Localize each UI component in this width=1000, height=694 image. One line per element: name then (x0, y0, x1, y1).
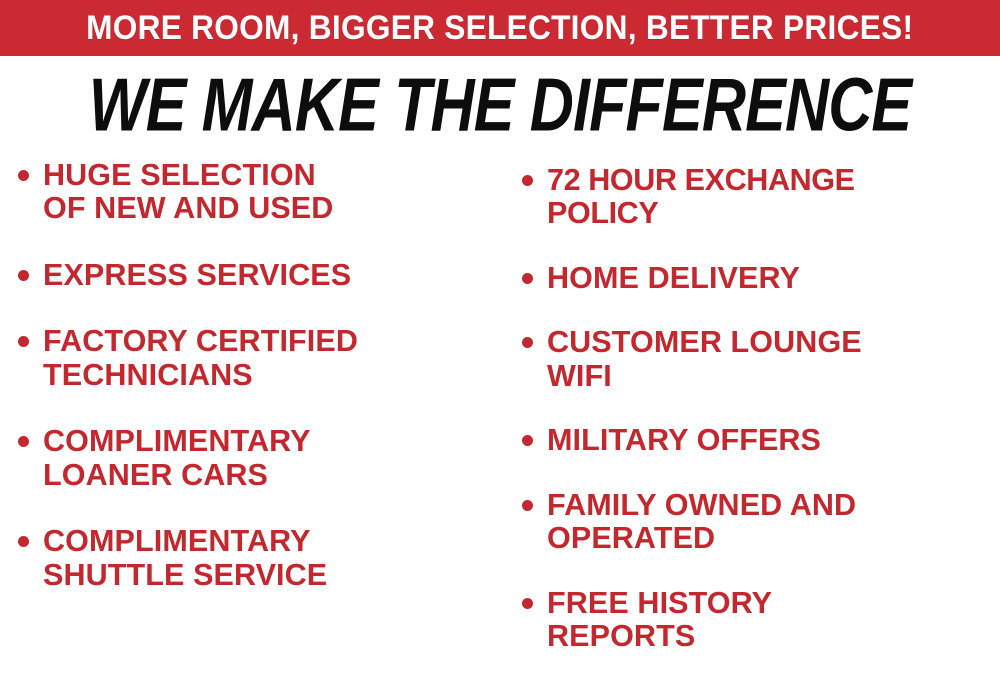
list-item-label: HOME DELIVERY (547, 261, 985, 294)
list-item-label: HUGE SELECTION OF NEW AND USED (43, 158, 489, 225)
top-banner: MORE ROOM, BIGGER SELECTION, BETTER PRIC… (0, 0, 1000, 56)
bullet-dot-icon (18, 336, 29, 347)
list-item-label: FREE HISTORY REPORTS (547, 586, 985, 653)
bullet-dot-icon (18, 436, 29, 447)
bullet-dot-icon (18, 170, 29, 181)
headline-container: WE MAKE THE DIFFERENCE (0, 66, 1000, 144)
list-item: COMPLIMENTARY LOANER CARS (18, 424, 496, 491)
benefits-columns: HUGE SELECTION OF NEW AND USED EXPRESS S… (0, 158, 1000, 694)
list-item: FREE HISTORY REPORTS (522, 586, 992, 653)
bullet-dot-icon (522, 175, 533, 186)
list-item-label: MILITARY OFFERS (547, 423, 985, 456)
bullet-dot-icon (522, 598, 533, 609)
list-item-label: FAMILY OWNED AND OPERATED (547, 488, 985, 555)
bullet-dot-icon (522, 337, 533, 348)
bullet-dot-icon (18, 536, 29, 547)
list-item: FAMILY OWNED AND OPERATED (522, 488, 992, 555)
list-item-label: COMPLIMENTARY SHUTTLE SERVICE (43, 524, 489, 591)
benefits-column-left: HUGE SELECTION OF NEW AND USED EXPRESS S… (18, 158, 496, 624)
list-item: HUGE SELECTION OF NEW AND USED (18, 158, 496, 225)
list-item-label: CUSTOMER LOUNGE WIFI (547, 325, 985, 392)
bullet-dot-icon (522, 500, 533, 511)
page-title: WE MAKE THE DIFFERENCE (89, 67, 911, 142)
list-item-label: FACTORY CERTIFIED TECHNICIANS (43, 324, 489, 391)
benefits-column-right: 72 HOUR EXCHANGE POLICY HOME DELIVERY CU… (522, 158, 992, 684)
list-item: HOME DELIVERY (522, 261, 992, 294)
list-item: EXPRESS SERVICES (18, 258, 496, 291)
banner-headline-text: MORE ROOM, BIGGER SELECTION, BETTER PRIC… (86, 11, 913, 45)
list-item: 72 HOUR EXCHANGE POLICY (522, 163, 992, 230)
list-item: FACTORY CERTIFIED TECHNICIANS (18, 324, 496, 391)
bullet-dot-icon (522, 435, 533, 446)
list-item: MILITARY OFFERS (522, 423, 992, 456)
list-item-label: EXPRESS SERVICES (43, 258, 489, 291)
list-item: CUSTOMER LOUNGE WIFI (522, 325, 992, 392)
promo-poster: MORE ROOM, BIGGER SELECTION, BETTER PRIC… (0, 0, 1000, 694)
list-item-label: 72 HOUR EXCHANGE POLICY (547, 163, 985, 230)
list-item: COMPLIMENTARY SHUTTLE SERVICE (18, 524, 496, 591)
bullet-dot-icon (522, 273, 533, 284)
list-item-label: COMPLIMENTARY LOANER CARS (43, 424, 489, 491)
bullet-dot-icon (18, 270, 29, 281)
